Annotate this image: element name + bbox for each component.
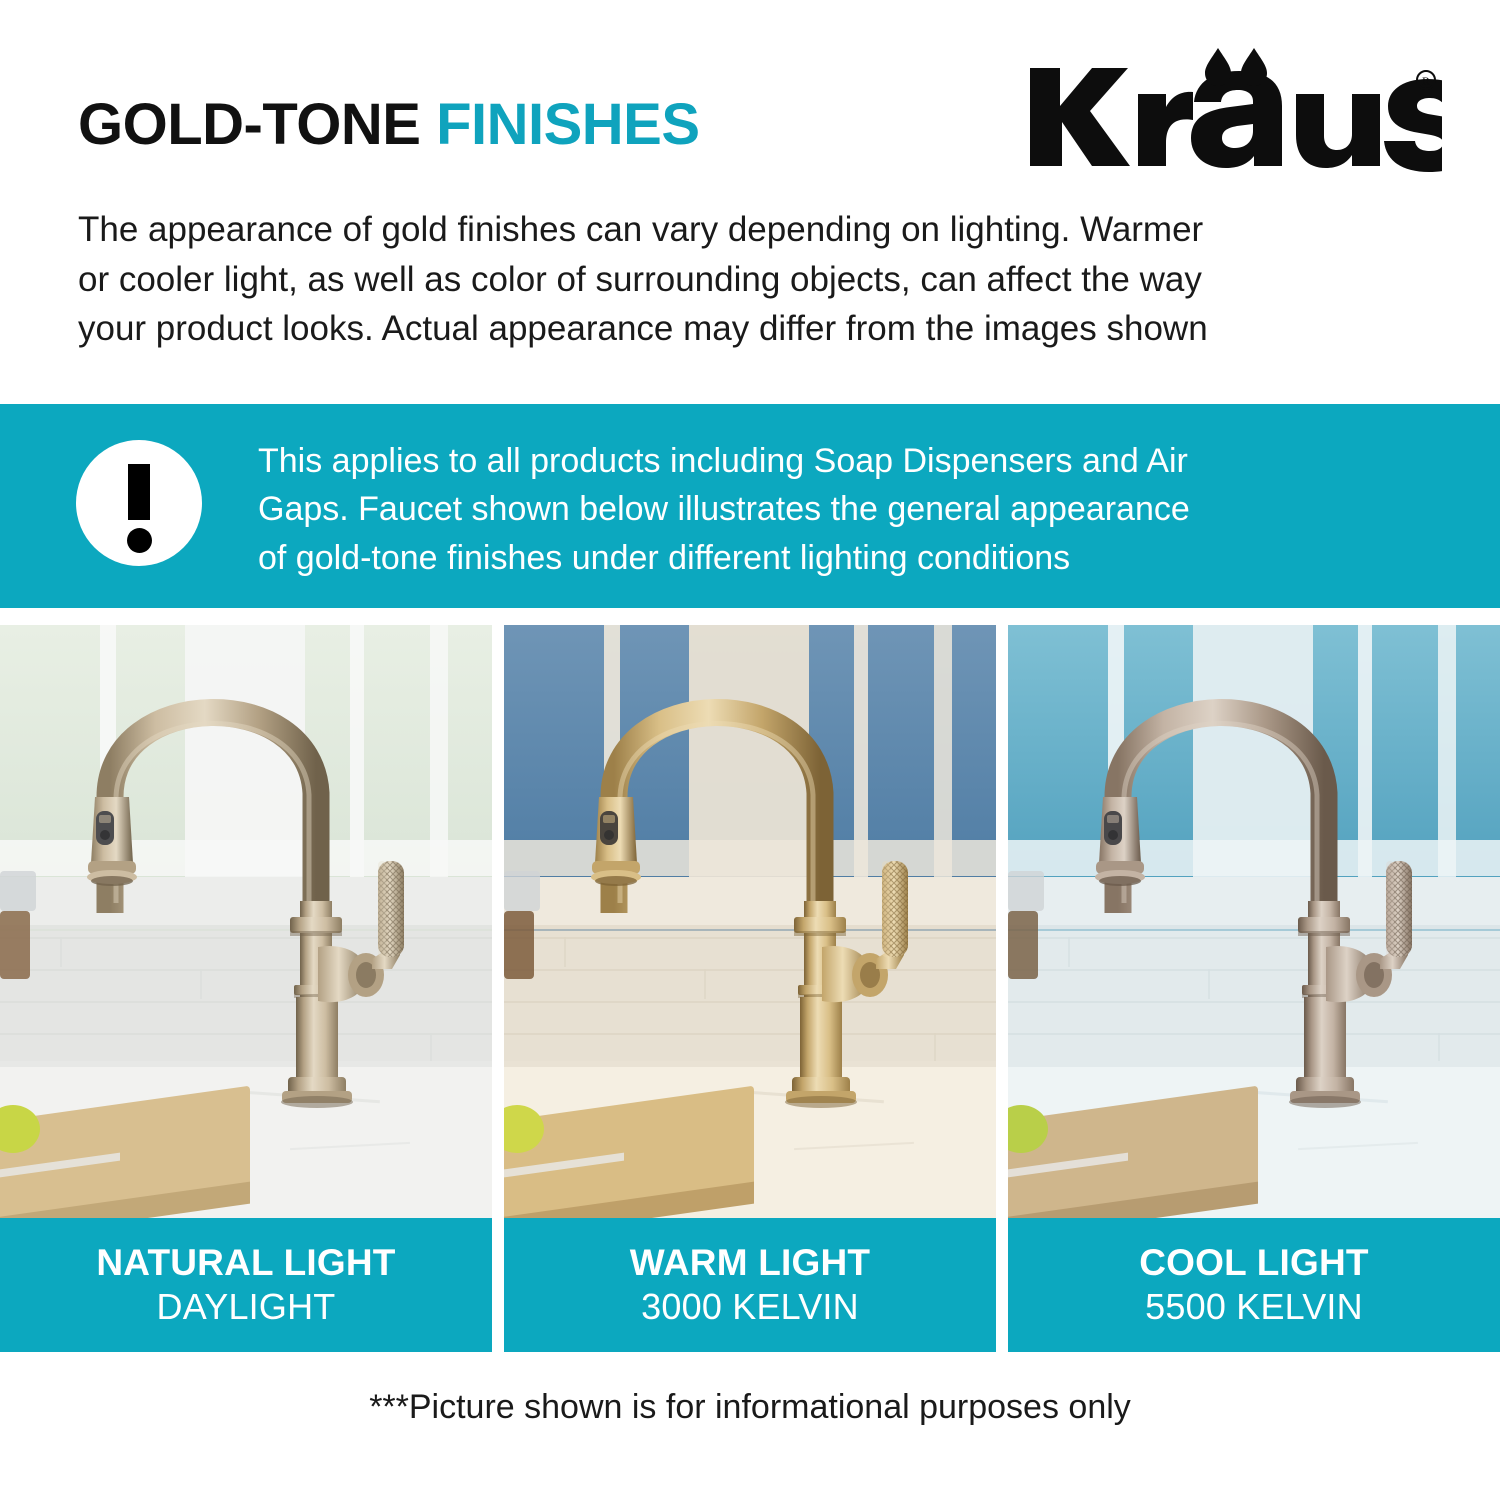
page-header: GOLD-TONE FINISHES R [0,0,1500,404]
intro-line-1: The appearance of gold finishes can vary… [78,205,1448,255]
svg-text:R: R [1422,74,1430,88]
alert-line-2: Gaps. Faucet shown below illustrates the… [258,485,1448,533]
page-title-primary: GOLD-TONE [78,92,420,157]
panel-warm-light: WARM LIGHT 3000 KELVIN [504,625,996,1352]
alert-line-3: of gold-tone finishes under different li… [258,534,1448,582]
page-title: GOLD-TONE FINISHES [78,96,700,154]
intro-line-3: your product looks. Actual appearance ma… [78,304,1448,354]
footer-note: ***Picture shown is for informational pu… [0,1388,1500,1427]
intro-line-2: or cooler light, as well as color of sur… [78,255,1448,305]
caption-title: WARM LIGHT [504,1242,996,1285]
caption-title: COOL LIGHT [1008,1242,1500,1285]
exclamation-bar [128,464,150,520]
caption-subtitle: 3000 KELVIN [504,1285,996,1328]
caption-subtitle: 5500 KELVIN [1008,1285,1500,1328]
faucet-illustration [0,625,492,1218]
panel-cool-light: COOL LIGHT 5500 KELVIN [1008,625,1500,1352]
exclamation-icon [76,440,202,566]
kraus-logo: R [1022,42,1442,172]
panel-natural-light: NATURAL LIGHT DAYLIGHT [0,625,492,1352]
faucet-photo-natural [0,625,492,1218]
faucet-illustration [1008,625,1500,1218]
alert-banner-text: This applies to all products including S… [258,437,1448,582]
caption-title: NATURAL LIGHT [0,1242,492,1285]
faucet-illustration [504,625,996,1218]
page-title-secondary: FINISHES [436,92,700,157]
intro-paragraph: The appearance of gold finishes can vary… [78,205,1448,354]
caption-natural-light: NATURAL LIGHT DAYLIGHT [0,1218,492,1352]
caption-warm-light: WARM LIGHT 3000 KELVIN [504,1218,996,1352]
comparison-panels: NATURAL LIGHT DAYLIGHT [0,625,1500,1352]
caption-cool-light: COOL LIGHT 5500 KELVIN [1008,1218,1500,1352]
faucet-photo-warm [504,625,996,1218]
exclamation-dot [127,528,152,553]
caption-subtitle: DAYLIGHT [0,1285,492,1328]
faucet-photo-cool [1008,625,1500,1218]
alert-line-1: This applies to all products including S… [258,437,1448,485]
